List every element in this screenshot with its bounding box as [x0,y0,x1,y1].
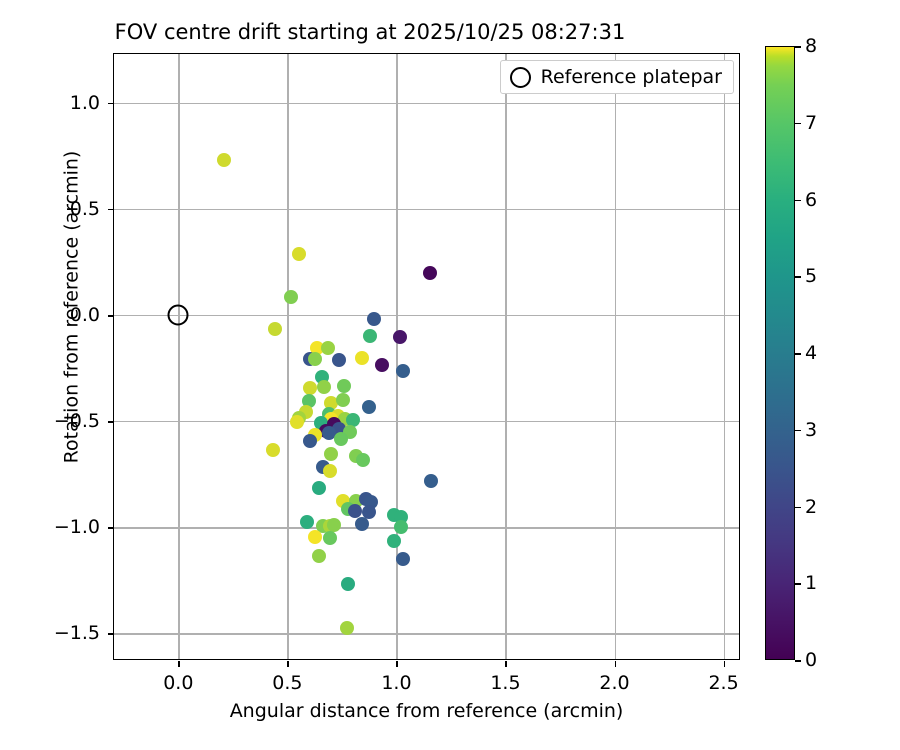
x-gridline [724,54,725,659]
plot-area [114,54,739,659]
scatter-point [337,379,351,393]
legend-label-reference-platepar: Reference platepar [541,66,722,88]
x-gridline [178,54,179,659]
scatter-point [312,481,326,495]
colorbar-tick-label: 4 [805,342,817,364]
x-tick-label: 2.5 [708,672,738,694]
x-axis-label: Angular distance from reference (arcmin) [113,700,740,722]
scatter-point [334,432,348,446]
scatter-point [332,353,346,367]
scatter-point [393,330,407,344]
scatter-point [394,520,408,534]
x-tick [396,661,398,667]
x-tick-label: 0.0 [163,672,193,694]
x-tick [615,661,617,667]
scatter-point [266,443,280,457]
scatter-point [387,534,401,548]
y-tick-label: −1.5 [54,622,100,644]
y-gridline [114,633,739,634]
y-gridline [114,527,739,528]
y-tick [108,633,114,635]
y-axis-label: Rotation from reference (arcmin) [61,4,83,611]
y-tick [108,103,114,105]
scatter-point [367,312,381,326]
reference-platepar-marker-icon [510,67,531,88]
chart-title: FOV centre drift starting at 2025/10/25 … [0,20,740,44]
colorbar-tick-label: 6 [805,189,817,211]
colorbar-tick-label: 7 [805,112,817,134]
scatter-point [317,380,331,394]
x-tick [724,661,726,667]
y-gridline [114,209,739,210]
scatter-point [268,322,282,336]
colorbar-tick [795,430,801,432]
x-tick-label: 1.0 [381,672,411,694]
scatter-point [396,552,410,566]
scatter-point [355,517,369,531]
scatter-point [356,453,370,467]
x-tick [178,661,180,667]
x-gridline [396,54,397,659]
scatter-point [290,415,304,429]
scatter-point [363,329,377,343]
x-gridline [505,54,506,659]
x-tick-label: 0.5 [272,672,302,694]
scatter-point [300,515,314,529]
colorbar-gradient [765,46,795,660]
y-tick [108,421,114,423]
scatter-point [308,530,322,544]
colorbar-tick-label: 3 [805,419,817,441]
scatter-point [324,447,338,461]
scatter-point [336,393,350,407]
scatter-point [321,341,335,355]
scatter-point [341,577,355,591]
colorbar-tick-label: 5 [805,265,817,287]
colorbar-tick-label: 0 [805,649,817,671]
scatter-point [423,266,437,280]
colorbar-tick-label: 2 [805,496,817,518]
scatter-point [312,549,326,563]
colorbar-tick-label: 1 [805,572,817,594]
colorbar-tick [795,507,801,509]
y-gridline [114,421,739,422]
x-tick-label: 1.5 [490,672,520,694]
y-tick [108,527,114,529]
y-tick [108,209,114,211]
scatter-point [292,247,306,261]
x-tick [287,661,289,667]
colorbar-tick-label: 8 [805,35,817,57]
y-gridline [114,103,739,104]
x-tick [505,661,507,667]
colorbar-tick [795,353,801,355]
y-gridline [114,315,739,316]
colorbar-tick [795,46,801,48]
x-gridline [615,54,616,659]
scatter-point [323,464,337,478]
colorbar-tick [795,123,801,125]
scatter-point [217,153,231,167]
legend: Reference platepar [500,60,734,94]
reference-platepar-point [168,305,189,326]
scatter-point [340,621,354,635]
colorbar-tick [795,583,801,585]
scatter-point [303,434,317,448]
scatter-point [424,474,438,488]
colorbar-tick [795,660,801,662]
scatter-point [308,352,322,366]
scatter-point [323,531,337,545]
figure: FOV centre drift starting at 2025/10/25 … [0,0,900,750]
scatter-point [396,364,410,378]
scatter-point [284,290,298,304]
scatter-point [355,351,369,365]
y-tick [108,315,114,317]
colorbar-tick [795,200,801,202]
scatter-point [375,358,389,372]
plot-axes: Reference platepar 0.00.51.01.52.02.51.0… [113,53,740,660]
x-tick-label: 2.0 [599,672,629,694]
colorbar-tick [795,276,801,278]
scatter-point [362,400,376,414]
x-gridline [287,54,288,659]
